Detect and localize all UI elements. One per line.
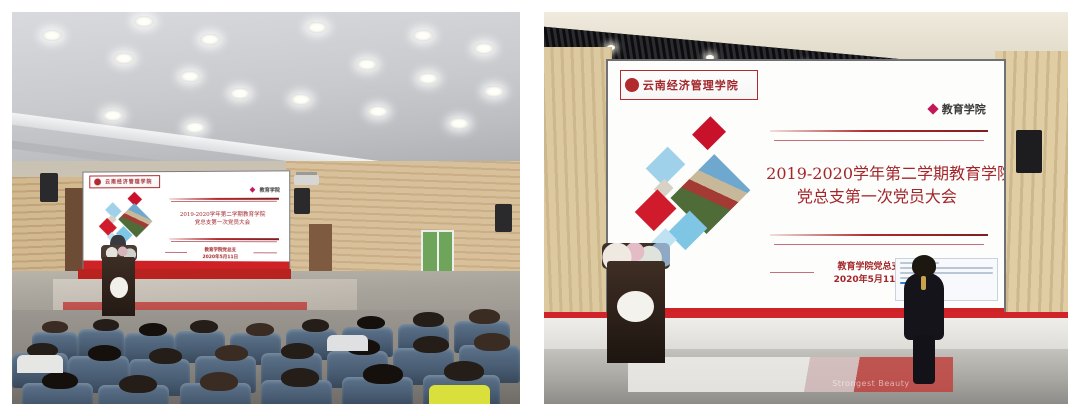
footer-rule-left	[770, 272, 814, 273]
audience-member-head	[93, 319, 118, 331]
audience-member-head	[469, 309, 499, 324]
audience-member-head	[413, 336, 449, 353]
loudspeaker-icon	[1016, 130, 1042, 173]
loudspeaker-icon	[495, 204, 512, 231]
audience-member-head	[357, 316, 385, 329]
decorative-diamonds	[99, 193, 164, 250]
downlight-icon	[418, 73, 438, 84]
university-logo: 云南经济管理学院	[620, 70, 758, 99]
audience-member-top	[327, 335, 368, 351]
audience-member-head	[42, 372, 78, 389]
photo-collage-page: 云南经济管理学院 教育学院 2019-2020学年第二学期教育学院 党总支第一次…	[0, 0, 1080, 416]
diamond-red-icon	[635, 189, 677, 231]
slide-footer: 教育学院党总支 2020年5月11日	[189, 248, 251, 262]
slide-title-line-1: 2019-2020学年第二学期教育学院	[766, 162, 988, 185]
department-label: 教育学院	[929, 101, 986, 117]
footer-rule-right	[253, 252, 276, 253]
audience-member-head	[200, 372, 238, 391]
footer-rule-left	[164, 252, 187, 253]
department-label: 教育学院	[250, 186, 280, 193]
title-rule-bottom	[168, 237, 278, 239]
university-seal-icon	[94, 178, 101, 185]
downlight-icon	[200, 34, 220, 45]
slide-title-line-1: 2019-2020学年第二学期教育学院	[164, 212, 280, 220]
diamond-bullet-icon	[249, 187, 255, 193]
downlight-icon	[134, 16, 154, 27]
downlight-icon	[368, 106, 388, 117]
title-rule-top	[168, 198, 278, 200]
university-logo-text: 云南经济管理学院	[105, 178, 152, 185]
speaker-with-microphone	[900, 255, 947, 384]
audience-member-head	[246, 323, 274, 336]
slide-title-line-2: 党总支第一次党员大会	[164, 220, 280, 228]
audience-member-head	[302, 319, 330, 332]
downlight-icon	[42, 30, 62, 41]
microphone-icon	[921, 276, 926, 290]
loudspeaker-icon	[294, 188, 310, 213]
audience-member-head	[119, 375, 157, 394]
downlight-icon	[114, 53, 134, 64]
photo-watermark: Strongest Beauty	[832, 379, 909, 388]
audience-member-top	[429, 385, 490, 404]
department-label-text: 教育学院	[942, 101, 986, 117]
audience-member-top	[17, 355, 63, 374]
slide-title: 2019-2020学年第二学期教育学院 党总支第一次党员大会	[164, 212, 280, 228]
title-rule-bottom-hair	[170, 240, 276, 241]
projector-icon	[294, 175, 319, 185]
led-screen-closeup-photo: 云南经济管理学院 教育学院 2019-2020学年第二学期教育学院 党总支第一次…	[544, 12, 1068, 404]
audience-member-head	[139, 323, 167, 336]
university-seal-icon	[625, 78, 639, 92]
slide-footer-line-1: 教育学院党总支	[189, 248, 251, 255]
title-rule-top	[770, 130, 988, 132]
loudspeaker-icon	[40, 173, 58, 202]
diamond-bullet-icon	[927, 103, 938, 114]
downlight-icon	[180, 71, 200, 82]
audience-member-head	[42, 321, 67, 333]
university-logo-text: 云南经济管理学院	[643, 77, 739, 93]
diamond-red-icon	[692, 116, 726, 150]
wood-panel-wall-left	[544, 47, 612, 353]
speaker-head	[912, 255, 937, 277]
audience-member-head	[474, 333, 510, 350]
slide-title: 2019-2020学年第二学期教育学院 党总支第一次党员大会	[766, 162, 988, 208]
slide-title-line-2: 党总支第一次党员大会	[766, 185, 988, 208]
audience-member-head	[88, 345, 121, 361]
speaker-legs	[913, 335, 936, 384]
audience-member-head	[281, 343, 314, 359]
auditorium-wide-photo: 云南经济管理学院 教育学院 2019-2020学年第二学期教育学院 党总支第一次…	[12, 12, 520, 404]
audience-member-head	[149, 348, 182, 364]
downlight-icon	[449, 118, 469, 129]
wood-panel-wall-right	[995, 51, 1068, 349]
department-label-text: 教育学院	[259, 186, 279, 193]
title-rule-top-hair	[774, 140, 984, 141]
title-rule-bottom	[770, 234, 988, 236]
audience-seating	[12, 271, 520, 404]
university-logo: 云南经济管理学院	[89, 175, 160, 188]
downlight-icon	[185, 122, 205, 133]
downlight-icon	[413, 30, 433, 41]
audience-member-head	[413, 312, 443, 327]
university-emblem-icon	[607, 261, 665, 363]
audience-member-head	[363, 364, 404, 384]
audience-member-head	[215, 345, 248, 361]
audience-member-head	[281, 368, 319, 387]
title-rule-top-hair	[170, 201, 276, 202]
audience-member-head	[190, 320, 218, 333]
title-rule-bottom-hair	[774, 244, 984, 245]
downlight-icon	[307, 22, 327, 33]
audience-member-head	[444, 361, 485, 381]
